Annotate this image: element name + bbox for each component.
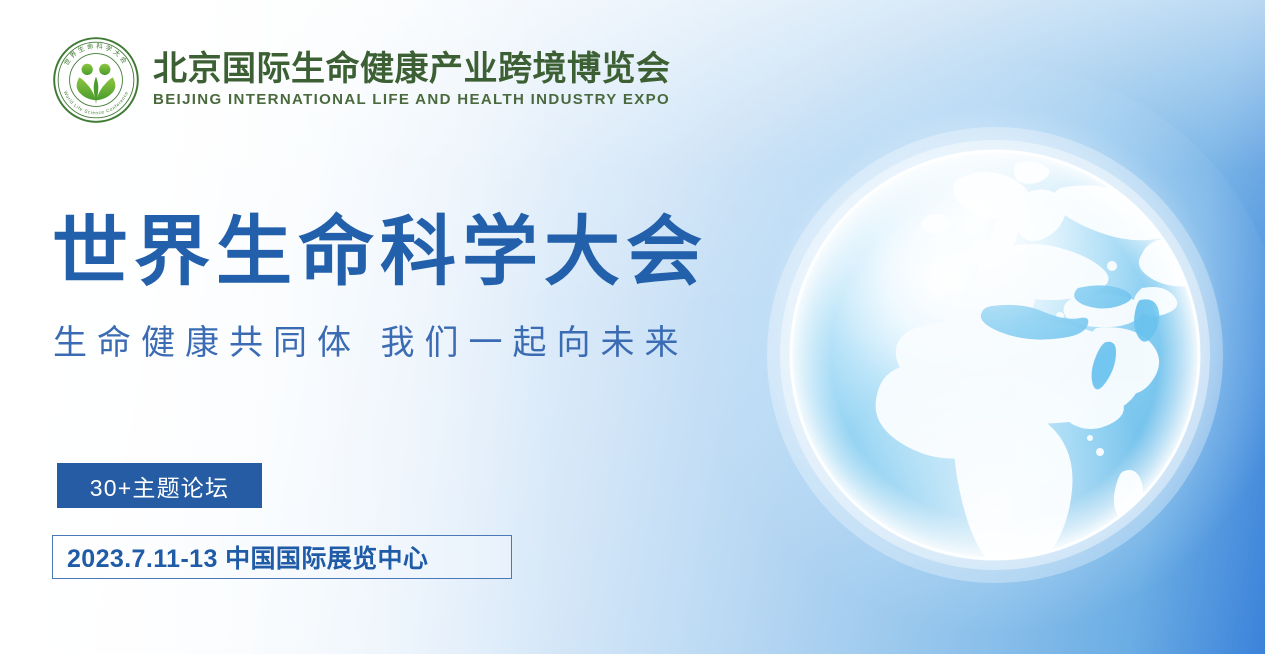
two-figures-plant-glyph bbox=[77, 64, 116, 105]
event-banner: 世界生命科学大会 World Life Science Conference 北… bbox=[0, 0, 1265, 654]
inland-seas bbox=[981, 285, 1160, 389]
world-life-science-conference-emblem-icon: 世界生命科学大会 World Life Science Conference bbox=[52, 36, 140, 124]
globe-svg bbox=[760, 120, 1230, 590]
globe-halo bbox=[705, 65, 1265, 645]
organization-name-cn: 北京国际生命健康产业跨境博览会 bbox=[153, 50, 675, 88]
organization-name-en: BEIJING INTERNATIONAL LIFE AND HEALTH IN… bbox=[153, 91, 670, 109]
page-title: 世界生命科学大会 bbox=[52, 213, 708, 294]
date-venue-badge-label: 2023.7.11-13 中国国际展览中心 bbox=[67, 539, 428, 575]
date-venue-badge[interactable]: 2023.7.11-13 中国国际展览中心 bbox=[52, 535, 512, 579]
logo-text-block: 北京国际生命健康产业跨境博览会 BEIJING INTERNATIONAL LI… bbox=[153, 50, 675, 109]
landmasses bbox=[876, 161, 1228, 577]
forum-count-badge[interactable]: 30+主题论坛 bbox=[57, 463, 262, 508]
logo-lockup[interactable]: 世界生命科学大会 World Life Science Conference 北… bbox=[52, 36, 675, 124]
forum-count-badge-label: 30+主题论坛 bbox=[90, 469, 229, 503]
page-subtitle: 生命健康共同体 我们一起向未来 bbox=[53, 322, 688, 365]
earth-globe-graphic bbox=[760, 120, 1230, 590]
